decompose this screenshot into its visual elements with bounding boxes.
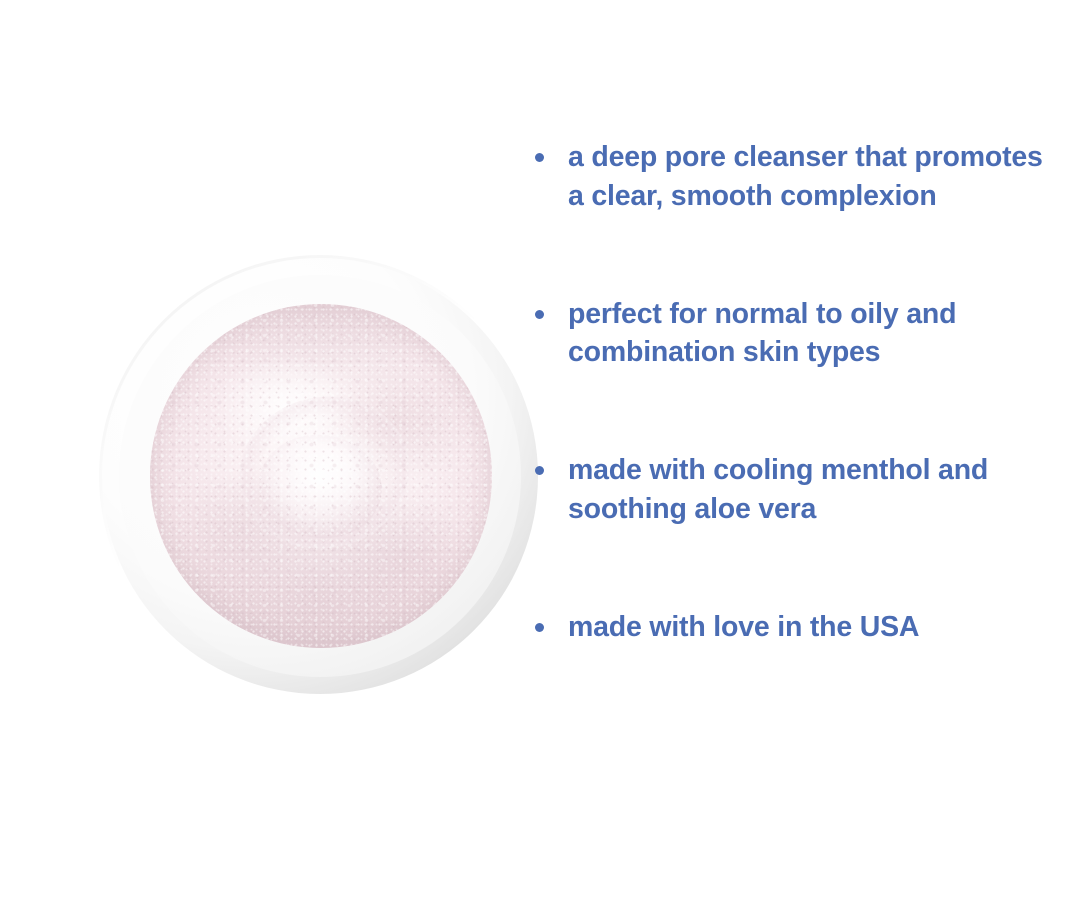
product-surface bbox=[150, 304, 492, 647]
benefits-list: a deep pore cleanser that promotes a cle… bbox=[528, 138, 1056, 646]
bullet-icon bbox=[535, 623, 544, 632]
benefit-text: perfect for normal to oily and combinati… bbox=[568, 295, 1056, 373]
bullet-icon bbox=[535, 310, 544, 319]
benefit-text: made with cooling menthol and soothing a… bbox=[568, 451, 1056, 529]
benefit-text: made with love in the USA bbox=[568, 608, 1056, 647]
product-benefits-page: a deep pore cleanser that promotes a cle… bbox=[0, 0, 1069, 913]
product-grain-texture bbox=[150, 304, 492, 647]
product-swirl-outer bbox=[225, 381, 424, 564]
bullet-icon bbox=[535, 466, 544, 475]
product-grain-texture-coarse bbox=[150, 304, 492, 647]
list-item: perfect for normal to oily and combinati… bbox=[528, 295, 1056, 373]
list-item: made with cooling menthol and soothing a… bbox=[528, 451, 1056, 529]
product-image bbox=[102, 258, 538, 694]
bullet-icon bbox=[535, 153, 544, 162]
list-item: made with love in the USA bbox=[528, 608, 1056, 647]
product-swirl-inner bbox=[253, 427, 389, 546]
list-item: a deep pore cleanser that promotes a cle… bbox=[528, 138, 1056, 216]
product-clumps bbox=[150, 304, 492, 647]
jar-inner-lip bbox=[119, 275, 520, 676]
product-surface-shading bbox=[150, 304, 492, 647]
benefit-text: a deep pore cleanser that promotes a cle… bbox=[568, 138, 1056, 216]
jar-rim bbox=[102, 258, 538, 694]
